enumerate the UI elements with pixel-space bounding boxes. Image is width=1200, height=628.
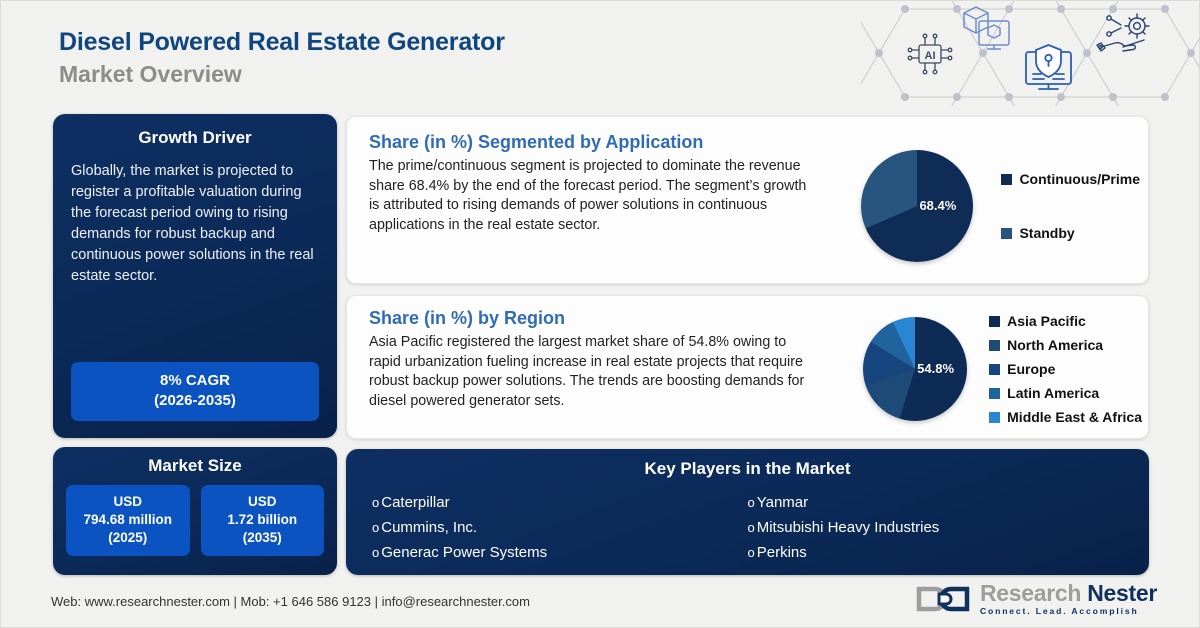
market-size-title: Market Size — [66, 456, 324, 476]
legend-item-asia-pacific: Asia Pacific — [989, 313, 1142, 329]
ai-chip-icon: AI — [908, 34, 952, 74]
cagr-period: (2026-2035) — [77, 391, 313, 411]
region-legend: Asia PacificNorth AmericaEuropeLatin Ame… — [989, 313, 1142, 425]
legend-item-latin-america: Latin America — [989, 385, 1142, 401]
region-pie: 54.8% — [863, 317, 967, 421]
market-size-box-2035: USD 1.72 billion (2035) — [201, 485, 325, 556]
logo-name: Research Nester — [980, 582, 1157, 605]
legend-label: Continuous/Prime — [1019, 171, 1140, 187]
legend-label: North America — [1007, 337, 1103, 353]
research-nester-logo: Research Nester Connect. Lead. Accomplis… — [915, 579, 1157, 619]
cagr-value: 8% CAGR — [77, 371, 313, 391]
infographic-page: Diesel Powered Real Estate Generator Mar… — [0, 0, 1200, 628]
hexagon-decoration: AI — [861, 1, 1200, 106]
legend-item-standby: Standby — [1001, 225, 1140, 241]
value-label: 1.72 billion — [203, 511, 323, 529]
market-size-values: USD 794.68 million (2025) USD 1.72 billi… — [66, 485, 324, 556]
legend-swatch — [989, 388, 1000, 399]
key-players-card: Key Players in the Market oCaterpillaroC… — [346, 449, 1149, 575]
growth-driver-body: Globally, the market is projected to reg… — [71, 161, 319, 287]
legend-item-continuous-prime: Continuous/Prime — [1001, 171, 1140, 187]
page-title: Diesel Powered Real Estate Generator — [59, 27, 505, 57]
legend-label: Standby — [1019, 225, 1074, 241]
header: Diesel Powered Real Estate Generator Mar… — [1, 1, 1200, 106]
3d-monitor-icon — [964, 7, 1009, 49]
legend-item-north-america: North America — [989, 337, 1142, 353]
key-player-name: Mitsubishi Heavy Industries — [757, 515, 940, 540]
growth-driver-card: Growth Driver Globally, the market is pr… — [53, 114, 337, 438]
key-players-column-right: oYanmaroMitsubishi Heavy IndustriesoPerk… — [748, 490, 1124, 565]
legend-label: Middle East & Africa — [1007, 409, 1142, 425]
application-legend: Continuous/Prime Standby — [1001, 171, 1140, 241]
legend-label: Europe — [1007, 361, 1055, 377]
robotic-hand-gear-icon — [1097, 14, 1149, 51]
legend-swatch — [1001, 228, 1012, 239]
region-chart: 54.8% Asia PacificNorth AmericaEuropeLat… — [863, 298, 1142, 440]
year-label: (2035) — [203, 529, 323, 547]
key-player-item: oMitsubishi Heavy Industries — [748, 515, 1124, 540]
footer-contact: Web: www.researchnester.com | Mob: +1 64… — [51, 594, 530, 609]
legend-swatch — [989, 316, 1000, 327]
key-player-item: oCaterpillar — [372, 490, 748, 515]
logo-mark-icon — [915, 582, 971, 616]
key-players-column-left: oCaterpillaroCummins, Inc.oGenerac Power… — [372, 490, 748, 565]
key-players-title: Key Players in the Market — [372, 459, 1123, 479]
legend-swatch — [1001, 174, 1012, 185]
key-player-item: oPerkins — [748, 540, 1124, 565]
region-share-card: Share (in %) by Region Asia Pacific regi… — [346, 295, 1149, 439]
logo-tagline: Connect. Lead. Accomplish — [980, 607, 1157, 616]
region-body: Asia Pacific registered the largest mark… — [369, 333, 814, 411]
list-bullet: o — [748, 515, 755, 540]
list-bullet: o — [372, 515, 379, 540]
key-player-item: oGenerac Power Systems — [372, 540, 748, 565]
application-pie: 68.4% — [861, 150, 973, 262]
list-bullet: o — [372, 540, 379, 565]
key-player-name: Perkins — [757, 540, 807, 565]
currency-label: USD — [68, 493, 188, 511]
cagr-badge: 8% CAGR (2026-2035) — [71, 362, 319, 421]
application-chart: 68.4% Continuous/Prime Standby — [861, 123, 1140, 289]
year-label: (2025) — [68, 529, 188, 547]
region-pie-label: 54.8% — [917, 361, 954, 376]
page-subtitle: Market Overview — [59, 59, 505, 89]
logo-wordmark: Research Nester Connect. Lead. Accomplis… — [980, 582, 1157, 616]
list-bullet: o — [372, 490, 379, 515]
logo-research-word: Research — [980, 580, 1081, 606]
key-player-name: Cummins, Inc. — [381, 515, 477, 540]
market-size-card: Market Size USD 794.68 million (2025) US… — [53, 447, 337, 575]
legend-swatch — [989, 340, 1000, 351]
application-share-card: Share (in %) Segmented by Application Th… — [346, 116, 1149, 284]
svg-text:AI: AI — [925, 50, 936, 62]
growth-driver-title: Growth Driver — [71, 128, 319, 148]
value-label: 794.68 million — [68, 511, 188, 529]
key-player-name: Caterpillar — [381, 490, 449, 515]
title-block: Diesel Powered Real Estate Generator Mar… — [59, 27, 505, 89]
application-body: The prime/continuous segment is projecte… — [369, 157, 814, 235]
legend-label: Asia Pacific — [1007, 313, 1086, 329]
legend-swatch — [989, 364, 1000, 375]
logo-nester-word: Nester — [1087, 580, 1157, 606]
key-player-item: oYanmar — [748, 490, 1124, 515]
legend-item-middle-east-africa: Middle East & Africa — [989, 409, 1142, 425]
key-player-name: Yanmar — [757, 490, 808, 515]
legend-swatch — [989, 412, 1000, 423]
legend-label: Latin America — [1007, 385, 1099, 401]
market-size-box-2025: USD 794.68 million (2025) — [66, 485, 190, 556]
key-player-item: oCummins, Inc. — [372, 515, 748, 540]
application-pie-label: 68.4% — [919, 198, 956, 213]
shield-monitor-icon — [1026, 45, 1071, 89]
legend-item-europe: Europe — [989, 361, 1142, 377]
currency-label: USD — [203, 493, 323, 511]
list-bullet: o — [748, 540, 755, 565]
list-bullet: o — [748, 490, 755, 515]
key-players-columns: oCaterpillaroCummins, Inc.oGenerac Power… — [372, 490, 1123, 565]
key-player-name: Generac Power Systems — [381, 540, 547, 565]
